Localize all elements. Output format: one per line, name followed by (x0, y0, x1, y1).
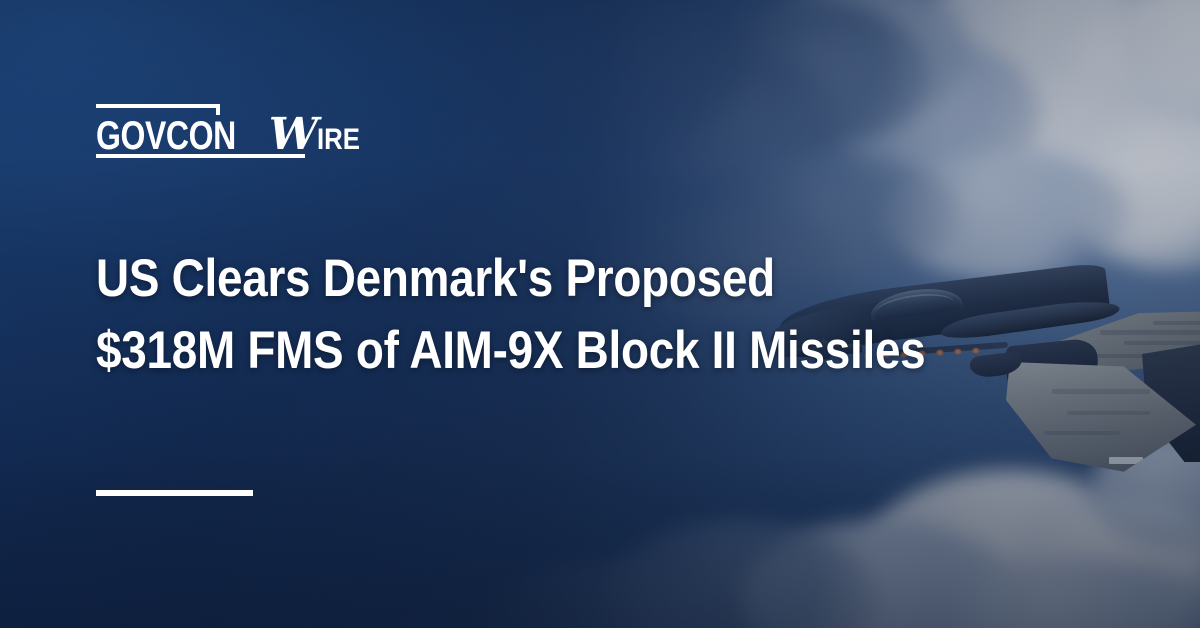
logo-text-ire: IRE (317, 125, 360, 155)
logo-wordmark: GOVCONWIRE (96, 113, 367, 157)
logo-text-w: W (269, 113, 316, 157)
headline: US Clears Denmark's Proposed $318M FMS o… (96, 243, 796, 387)
accent-divider (96, 490, 253, 496)
card-content: GOVCONWIRE US Clears Denmark's Proposed … (0, 0, 1200, 628)
headline-line-1: US Clears Denmark's Proposed (96, 243, 702, 315)
logo-text-govcon: GOVCON (96, 116, 236, 156)
logo-bottom-rule (96, 154, 305, 158)
social-share-card: GOVCONWIRE US Clears Denmark's Proposed … (0, 0, 1200, 628)
headline-line-2: $318M FMS of AIM-9X Block II Missiles (96, 315, 702, 387)
logo-top-rule (96, 104, 220, 108)
